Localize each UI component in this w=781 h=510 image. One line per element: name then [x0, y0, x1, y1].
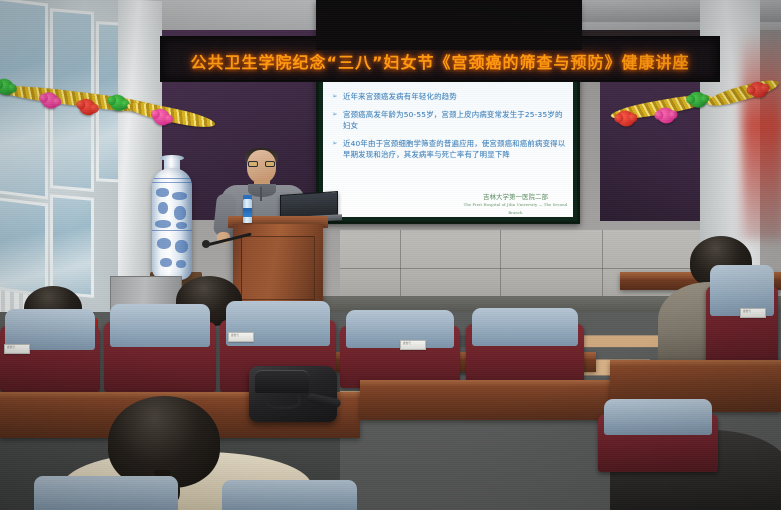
seat-cushion — [604, 399, 712, 435]
seat-number-tag: 座位号 — [400, 340, 426, 350]
slide-bullet: 宫颈癌高发年龄为50-55岁，宫颈上皮内病变常发生于25-35岁的妇女 — [332, 109, 567, 131]
seat-front-right[interactable] — [598, 414, 718, 472]
led-banner-occluded-by-screen — [316, 0, 582, 50]
microphone-head — [202, 240, 210, 248]
seat-cushion — [472, 308, 578, 346]
slide-signature: 吉林大学第一医院二部 The First Hospital of Jilin U… — [463, 193, 568, 211]
seat-cushion — [34, 476, 178, 510]
seat-row2-d[interactable]: 座位号 — [340, 326, 460, 388]
lecture-hall-photo: 宫颈癌概况 子宫颈癌（cervical cancer）是最常见的妇科恶性肿瘤 我… — [0, 0, 781, 510]
seat-number-tag: 座位号 — [228, 332, 254, 342]
backpack[interactable] — [249, 366, 337, 422]
seat-front-center[interactable] — [214, 480, 364, 510]
seat-right-rear[interactable]: 座位号 — [706, 286, 778, 368]
slide-signature-en: The First Hospital of Jilin University —… — [463, 201, 568, 217]
seat-cushion — [110, 304, 211, 347]
seat-front-left[interactable] — [26, 476, 186, 510]
porcelain-vase — [152, 168, 192, 280]
seat-row2-a[interactable]: 座位号 — [0, 326, 100, 392]
seat-row2-e[interactable] — [466, 324, 584, 386]
seat-number-tag: 座位号 — [4, 344, 30, 354]
window-pane — [50, 194, 94, 298]
backpack-handle — [265, 392, 301, 409]
slide-bullet: 近年来宫颈癌发病有年轻化的趋势 — [332, 91, 567, 102]
water-bottle-label — [243, 208, 252, 217]
seat-row2-b[interactable] — [104, 322, 216, 392]
water-bottle — [243, 199, 252, 223]
seat-cushion — [222, 480, 357, 510]
slide-bullet: 近40年由于宫颈细胞学筛查的普遍应用，使宫颈癌和癌前病变得以早期发现和治疗，其发… — [332, 138, 567, 160]
red-wall-light — [742, 30, 781, 240]
led-banner-text: 公共卫生学院纪念“三八”妇女节《宫颈癌的筛查与预防》健康讲座 — [162, 49, 718, 73]
speaker-collar — [248, 184, 276, 197]
attendee-front-center — [108, 396, 220, 488]
desk-row-front-center — [360, 380, 610, 420]
backpack-flap — [255, 370, 309, 393]
speaker-zipper — [260, 187, 262, 201]
seat-number-tag: 座位号 — [740, 308, 766, 318]
eyeglasses-icon — [248, 161, 275, 167]
slide-signature-cn: 吉林大学第一医院二部 — [483, 193, 548, 201]
podium-front-panel — [241, 236, 315, 300]
